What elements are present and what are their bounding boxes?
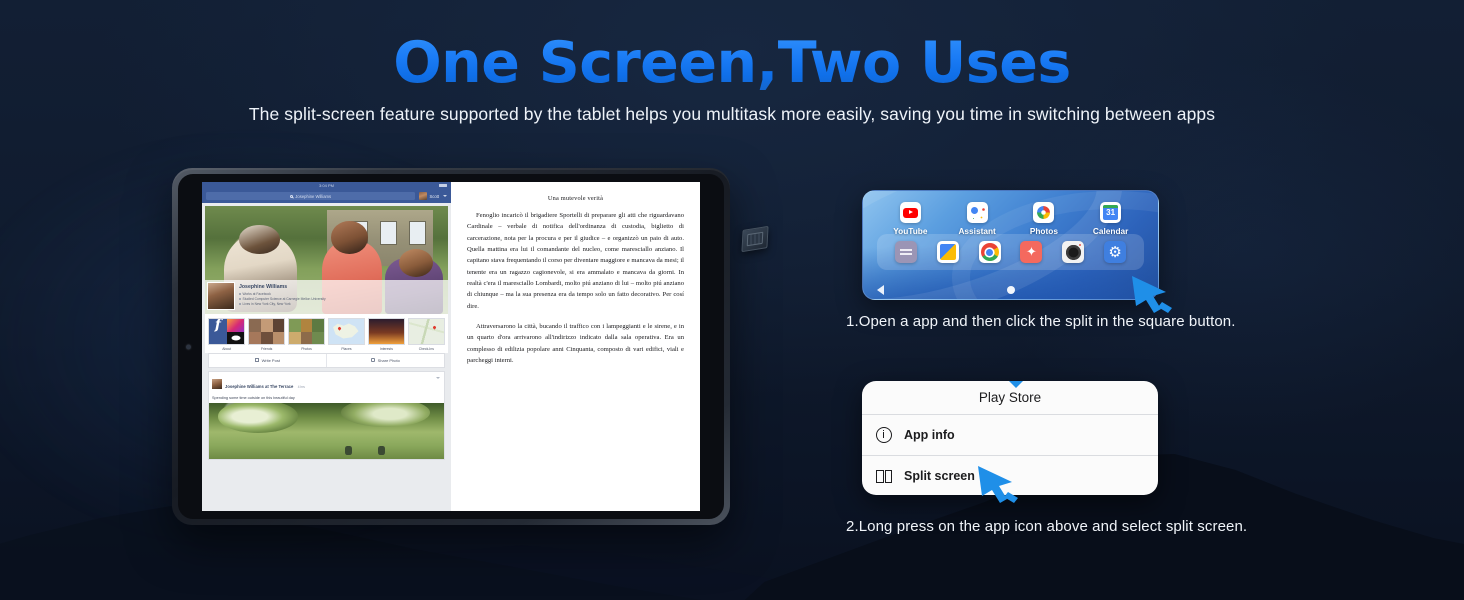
bullet-icon — [239, 303, 241, 305]
assistant-icon — [967, 202, 988, 223]
account-label: Scott — [429, 194, 439, 199]
android-home-screen[interactable]: YouTube Assistant Photos Calendar — [862, 190, 1159, 300]
front-camera-icon — [186, 344, 191, 349]
profile-tile-friends[interactable]: Friends — [248, 318, 285, 351]
settings-gear-icon[interactable] — [1104, 241, 1126, 263]
profile-identity-bar: Josephine Williams Works at Facebook Stu… — [205, 280, 448, 314]
search-text: Josephine Williams — [295, 194, 331, 199]
camera-icon[interactable] — [1062, 241, 1084, 263]
calendar-icon — [1100, 202, 1121, 223]
write-post-label: Write Post — [262, 358, 280, 363]
profile-bio-text: Lives in New York City, New York — [243, 302, 291, 307]
profile-tile-about[interactable]: About — [208, 318, 245, 351]
cover-window — [409, 221, 426, 245]
checkins-tile-icon — [408, 318, 445, 345]
app-dock — [877, 234, 1144, 270]
status-time: 3:04 PM — [319, 183, 334, 188]
step-1-caption: 1.Open a app and then click the split in… — [846, 313, 1236, 330]
page-subtitle: The split-screen feature supported by th… — [0, 104, 1464, 125]
cover-person-head — [331, 221, 367, 253]
places-tile-icon — [328, 318, 365, 345]
facebook-feed[interactable]: Josephine Williams Works at Facebook Stu… — [202, 203, 451, 511]
tablet-screen: 3:04 PM Josephine Williams Scott — [178, 174, 724, 519]
profile-name: Josephine Williams — [239, 284, 326, 290]
step-2-caption: 2.Long press on the app icon above and s… — [846, 518, 1247, 535]
avatar — [212, 379, 222, 389]
camera-icon — [371, 358, 375, 362]
book-chapter-title: Una mutevole verità — [467, 195, 684, 202]
app-grid: YouTube Assistant Photos Calendar — [863, 202, 1158, 236]
profile-cover-photo: Josephine Williams Works at Facebook Stu… — [205, 206, 448, 314]
cover-person-head — [239, 225, 280, 253]
chrome-icon[interactable] — [979, 241, 1001, 263]
photos-tile-icon — [288, 318, 325, 345]
bullet-icon — [239, 293, 241, 295]
page-title: One Screen,Two Uses — [0, 34, 1464, 92]
profile-avatar[interactable] — [207, 282, 235, 310]
chip-decoration-icon — [741, 226, 768, 252]
profile-tile-label: Interests — [368, 347, 405, 351]
chevron-down-icon[interactable] — [436, 377, 440, 379]
post-header: Josephine Williams at The Terrace 4 hrs — [209, 372, 444, 396]
bullet-icon — [239, 298, 241, 300]
interests-tile-icon — [368, 318, 405, 345]
write-post-button[interactable]: Write Post — [209, 354, 326, 367]
avatar — [419, 192, 427, 200]
pencil-icon — [255, 358, 259, 362]
sparkle-icon[interactable] — [1020, 241, 1042, 263]
post-photo-tree — [218, 403, 298, 433]
youtube-icon — [900, 202, 921, 223]
book-paragraph: Attraversarono la città, bucando il traf… — [467, 321, 684, 366]
book-paragraph: Fenoglio incaricò il brigadiere Sportell… — [467, 210, 684, 312]
battery-icon — [439, 184, 447, 187]
post-title: Josephine Williams at The Terrace — [225, 384, 293, 389]
split-pane-facebook[interactable]: 3:04 PM Josephine Williams Scott — [202, 182, 451, 511]
chevron-down-icon — [443, 195, 447, 197]
profile-tile-places[interactable]: Places — [328, 318, 365, 351]
app-assistant[interactable]: Assistant — [954, 202, 1000, 236]
feed-post[interactable]: Josephine Williams at The Terrace 4 hrs … — [208, 371, 445, 460]
cover-window — [380, 221, 397, 245]
share-photo-button[interactable]: Share Photo — [326, 354, 444, 367]
profile-tile-checkins[interactable]: Check-Ins — [408, 318, 445, 351]
app-photos[interactable]: Photos — [1021, 202, 1067, 236]
google-photos-icon — [1033, 202, 1054, 223]
navigation-bar — [863, 282, 1158, 296]
post-photo — [209, 403, 444, 459]
info-icon — [876, 427, 892, 443]
post-photo-figure — [378, 446, 385, 455]
menu-pointer-arrow-icon — [1008, 381, 1024, 388]
post-photo-tree — [341, 403, 430, 428]
post-text: Spending some time outside on this beaut… — [209, 396, 444, 403]
facebook-top-bar: Josephine Williams Scott — [202, 189, 451, 203]
about-tile-icon — [208, 318, 245, 345]
search-icon — [290, 195, 293, 198]
status-bar: 3:04 PM — [202, 182, 451, 189]
profile-action-bar: Write Post Share Photo — [208, 353, 445, 368]
profile-tiles-row: About Friends Photos — [205, 314, 448, 353]
profile-tile-label: About — [208, 347, 245, 351]
profile-tile-label: Friends — [248, 347, 285, 351]
menu-item-label: App info — [904, 428, 955, 442]
back-icon[interactable] — [877, 285, 884, 295]
menu-icon[interactable] — [895, 241, 917, 263]
app-calendar[interactable]: Calendar — [1088, 202, 1134, 236]
search-input[interactable]: Josephine Williams — [206, 192, 415, 200]
split-pane-ebook-reader[interactable]: Una mutevole verità Fenoglio incaricò il… — [451, 182, 700, 511]
split-screen-icon — [876, 468, 892, 484]
app-youtube[interactable]: YouTube — [887, 202, 933, 236]
profile-tile-photos[interactable]: Photos — [288, 318, 325, 351]
home-icon[interactable] — [1007, 286, 1015, 294]
post-timestamp: 4 hrs — [298, 385, 305, 389]
profile-bio-line: Lives in New York City, New York — [239, 302, 326, 307]
profile-tile-label: Photos — [288, 347, 325, 351]
friends-tile-icon — [248, 318, 285, 345]
account-menu[interactable]: Scott — [419, 192, 447, 200]
menu-item-label: Split screen — [904, 469, 975, 483]
post-photo-figure — [345, 446, 352, 455]
gallery-icon[interactable] — [937, 241, 959, 263]
tablet-device: 3:04 PM Josephine Williams Scott — [172, 168, 730, 525]
menu-item-app-info[interactable]: App info — [862, 415, 1158, 455]
share-photo-label: Share Photo — [378, 358, 400, 363]
profile-tile-label: Places — [328, 347, 365, 351]
profile-tile-label: Check-Ins — [408, 347, 445, 351]
pointer-cursor-icon — [975, 463, 1027, 503]
profile-tile-interests[interactable]: Interests — [368, 318, 405, 351]
pointer-cursor-icon — [1128, 272, 1182, 314]
